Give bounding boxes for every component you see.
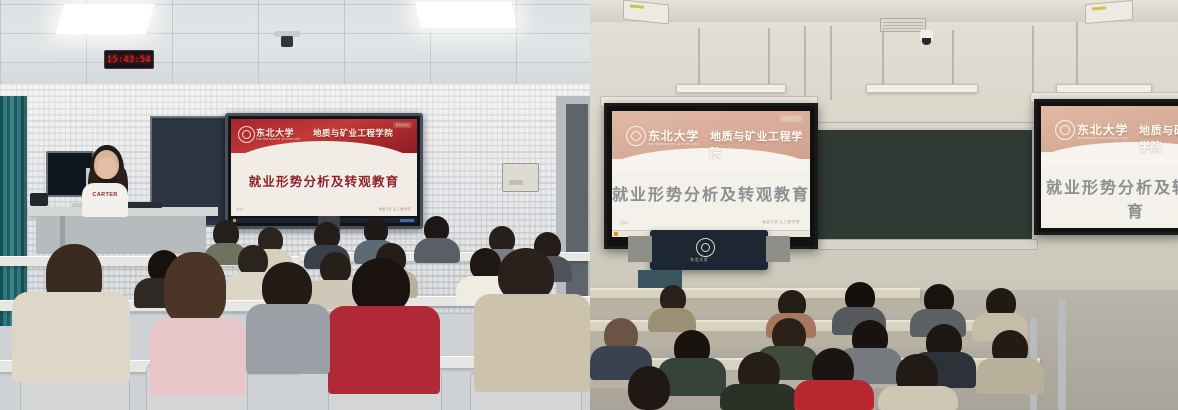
presentation-slide: 东北大学 Northeastern University 地质与矿业工程学院 教… (231, 119, 417, 216)
left-panel-classroom-photo: 15:43:54 东北大学 Northeastern University 地质… (0, 0, 590, 410)
slide-corner-tag: 教育部直属 (780, 115, 802, 122)
ceiling-light-panel (56, 4, 155, 34)
blackboard (815, 128, 1034, 244)
photo-composite: 15:43:54 东北大学 Northeastern University 地质… (0, 0, 1178, 410)
suspended-tube-light (676, 84, 786, 93)
light-suspension-rod (768, 28, 770, 88)
podium-equipment (30, 193, 48, 206)
presenter-sweatshirt-text: CARTER (88, 192, 122, 198)
presentation-slide: 东北大学 Northeastern University 地质与矿业工程学院 教… (612, 111, 810, 237)
dome-camera-icon (920, 30, 933, 40)
classroom-display-screen: 东北大学 Northeastern University 地质与矿业工程学院 教… (225, 113, 423, 229)
light-suspension-rod (952, 30, 954, 86)
slide-footer-left: 主讲人 (620, 220, 630, 225)
slide-footer-right: 地质与矿业工程学院 (379, 207, 411, 211)
slide-title: 就业形势分析及转观教育 (231, 171, 417, 190)
student-head (164, 252, 226, 324)
student-body (12, 292, 130, 382)
university-emblem-icon (1055, 120, 1075, 140)
screen-hanger (830, 26, 832, 100)
led-clock-value: 15:43:54 (107, 55, 151, 65)
slide-title: 就业形势分析及转观教育 (612, 181, 810, 205)
window-curtain (0, 96, 27, 326)
slide-college-name: 地质与矿业工程学院 (710, 128, 810, 160)
student-body (794, 380, 874, 410)
air-conditioner-vent (880, 18, 926, 32)
student-body (976, 358, 1044, 394)
student-body (246, 304, 330, 374)
university-emblem-icon (238, 126, 255, 143)
slide-footer-right: 地质与矿业工程学院 (762, 220, 800, 225)
suspended-tube-light (866, 84, 978, 93)
student-body (878, 386, 958, 410)
ceiling-projector-icon (1085, 0, 1133, 24)
blackboard-chalk-tray (810, 239, 1038, 250)
slide-college-name: 地质与矿业工程学院 (1139, 122, 1178, 154)
presenter-body (82, 183, 128, 217)
presentation-slide: 东北大学 Northeastern University 地质与矿业工程学院 就… (1041, 106, 1178, 228)
student-body (720, 384, 798, 410)
presenter-face (97, 157, 116, 179)
ceiling-sensor-icon (281, 36, 293, 47)
led-clock-display: 15:43:54 (104, 50, 154, 69)
slide-college-name: 地质与矿业工程学院 (313, 127, 393, 139)
bench-post (1058, 300, 1066, 410)
screen-hanger (804, 26, 806, 100)
projection-screen-left: 东北大学 Northeastern University 地质与矿业工程学院 教… (604, 103, 818, 249)
right-panel-lecture-hall-photo: 东北大学 Northeastern University 地质与矿业工程学院 教… (590, 0, 1178, 410)
student-body (150, 318, 246, 396)
lectern-wing (766, 236, 790, 262)
student-body (414, 238, 460, 263)
slide-footer-left: 主讲人 (236, 207, 244, 211)
lecture-hall-scene: 东北大学 Northeastern University 地质与矿业工程学院 教… (590, 0, 1178, 410)
slide-title: 就业形势分析及转观教育 (1041, 174, 1178, 222)
lectern-wing (628, 236, 652, 262)
lectern-emblem-text: 东北大学 (690, 257, 708, 263)
screen-hanger (1032, 26, 1034, 98)
slide-university-name-en: Northeastern University (256, 137, 300, 141)
classroom-scene: 15:43:54 东北大学 Northeastern University 地质… (0, 0, 590, 410)
slide-university-name-en: Northeastern University (1077, 135, 1128, 140)
light-suspension-rod (882, 30, 884, 86)
teaching-lectern: 东北大学 (650, 230, 768, 270)
ceiling-light-panel (415, 2, 517, 28)
student-body (474, 294, 590, 392)
student-body (328, 306, 440, 394)
wall-control-box (502, 163, 539, 192)
student-body (648, 308, 696, 332)
ceiling (0, 0, 590, 92)
university-emblem-icon (626, 126, 646, 146)
slide-university-name-en: Northeastern University (648, 141, 699, 146)
light-suspension-rod (698, 28, 700, 88)
projection-screen-right: 东北大学 Northeastern University 地质与矿业工程学院 就… (1034, 99, 1178, 235)
student-head (628, 366, 670, 410)
slide-corner-tag: 教育部直属 (393, 122, 412, 128)
light-suspension-rod (1076, 22, 1078, 84)
university-emblem-icon (696, 238, 715, 257)
